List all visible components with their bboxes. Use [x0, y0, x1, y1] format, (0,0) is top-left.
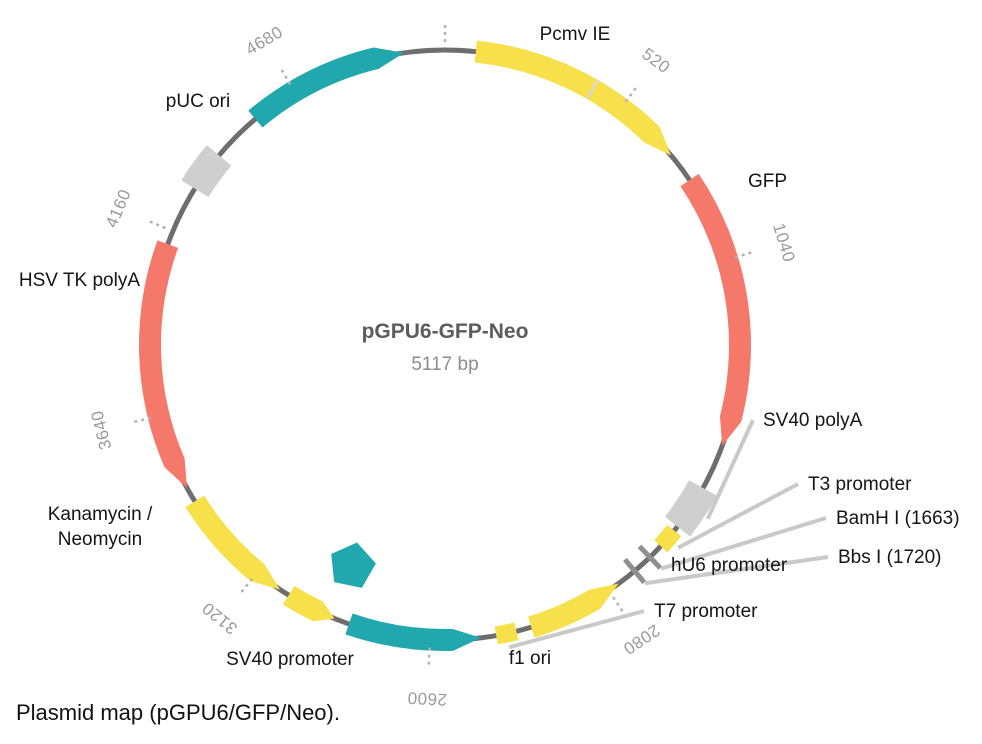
- tick-mark-1040: [735, 252, 752, 257]
- label-hsv-tk-polya: HSV TK polyA: [19, 270, 140, 291]
- label-sv40-promoter: SV40 promoter: [226, 649, 354, 670]
- tick-label-4680: 4680: [242, 22, 286, 59]
- feature-f1-ori: [345, 614, 481, 651]
- feature-puc-ori: [248, 47, 404, 127]
- plasmid-map-svg: 5201040208026003120364041604680 Pcmv IEG…: [0, 0, 982, 744]
- tick-mark-2600: [429, 648, 430, 666]
- figure-caption: Plasmid map (pGPU6/GFP/Neo).: [16, 700, 340, 726]
- tick-label-520: 520: [638, 44, 673, 77]
- label-gfp: GFP: [748, 171, 787, 192]
- tick-label-4160: 4160: [102, 186, 135, 230]
- tick-mark-4160: [149, 221, 166, 228]
- tick-mark-3640: [133, 418, 150, 422]
- feature-gfp: [680, 174, 751, 446]
- tick-label-3640: 3640: [87, 408, 115, 451]
- label-t7-promoter: T7 promoter: [654, 601, 758, 622]
- label-kan-neo: Kanamycin /Neomycin: [48, 504, 153, 550]
- feature-sv40-promoter: [185, 495, 280, 589]
- label-puc-ori: pUC ori: [166, 91, 230, 112]
- label-bbsi-site: Bbs I (1720): [838, 547, 942, 568]
- feature-sv40-polya: [665, 480, 717, 536]
- feature-t7-promoter: [495, 623, 519, 645]
- plasmid-title: pGPU6-GFP-Neo: [362, 320, 529, 343]
- plasmid-size: 5117 bp: [411, 354, 478, 375]
- label-f1-ori: f1 ori: [509, 648, 551, 669]
- tick-label-2080: 2080: [620, 621, 664, 659]
- plasmid-map-figure: 5201040208026003120364041604680 Pcmv IEG…: [0, 0, 982, 744]
- feature-unlabeled-pentagon: [331, 543, 376, 588]
- label-pcmv-ie: Pcmv IE: [540, 24, 611, 45]
- label-sv40-polya: SV40 polyA: [763, 410, 863, 431]
- feature-kan-neo: [139, 240, 187, 488]
- label-bamhi-site: BamH I (1663): [836, 508, 960, 529]
- tick-mark-3120: [241, 579, 252, 593]
- tick-mark-2080: [613, 597, 623, 612]
- tick-label-3120: 3120: [198, 598, 241, 638]
- tick-label-2600: 2600: [407, 688, 448, 709]
- feature-sv40-promoter-small: [283, 586, 335, 621]
- tick-mark-4680: [281, 69, 290, 84]
- tick-mark-520: [626, 87, 637, 101]
- tick-label-1040: 1040: [769, 221, 799, 265]
- feature-arcs: [139, 41, 751, 651]
- label-hu6-promoter: hU6 promoter: [671, 555, 788, 576]
- label-t3-promoter: T3 promoter: [808, 474, 912, 495]
